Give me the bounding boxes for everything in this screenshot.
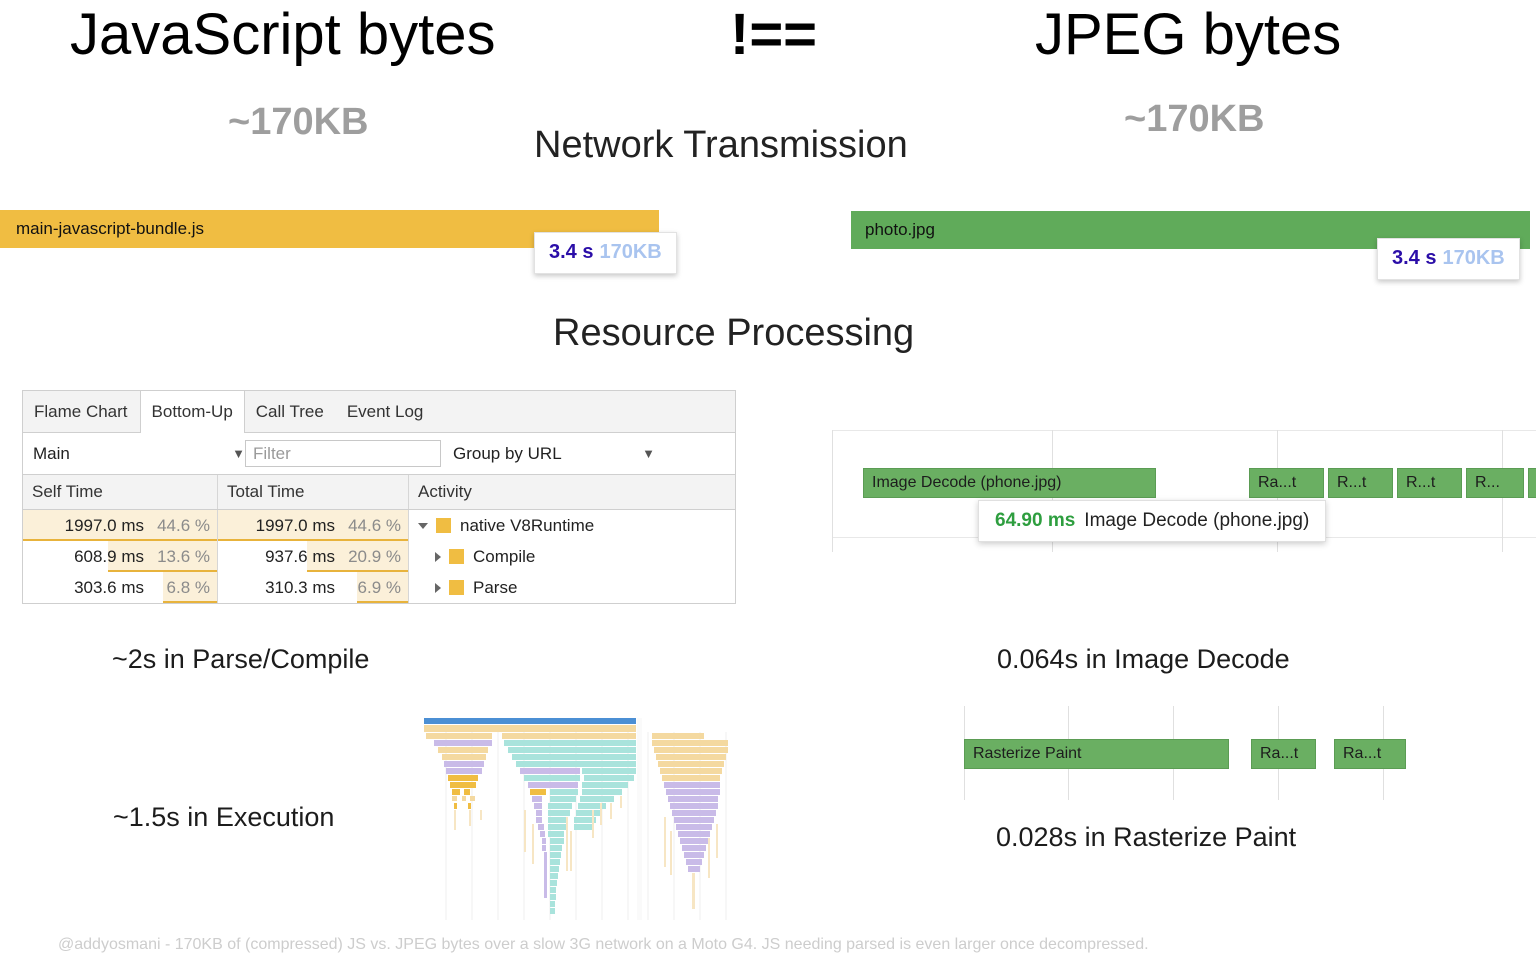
annotation-rasterize-paint: 0.028s in Rasterize Paint — [996, 822, 1296, 853]
cell-self-time-pct: 13.6 % — [144, 547, 210, 567]
section-heading-resource-processing: Resource Processing — [553, 308, 914, 358]
tab-bottom-up[interactable]: Bottom-Up — [140, 391, 245, 433]
network-tooltip-javascript: 3.4 s170KB — [534, 232, 677, 274]
flame-bar-rasterize-2-label: R...t — [1337, 474, 1366, 492]
network-tooltip-jpeg-time: 3.4 s — [1392, 247, 1436, 269]
image-decode-tooltip-label: Image Decode (phone.jpg) — [1084, 510, 1309, 531]
tab-event-log[interactable]: Event Log — [336, 391, 436, 432]
cell-total-time: 937.6 ms 20.9 % — [218, 541, 409, 572]
headline-not-equal-operator: !== — [730, 0, 817, 70]
table-row[interactable]: 303.6 ms 6.8 % 310.3 ms 6.9 % Parse — [23, 572, 735, 603]
size-note-javascript: ~170KB — [228, 98, 368, 146]
headline-jpeg-bytes: JPEG bytes — [1035, 0, 1341, 70]
color-swatch — [449, 580, 464, 595]
devtools-performance-panel: Flame Chart Bottom-Up Call Tree Event Lo… — [22, 390, 736, 604]
cell-total-time: 310.3 ms 6.9 % — [218, 572, 409, 603]
column-header-activity[interactable]: Activity — [409, 475, 735, 509]
flame-bar-rasterize-paint-main[interactable]: Rasterize Paint — [964, 739, 1229, 769]
image-decode-tooltip-duration: 64.90 ms — [995, 510, 1075, 531]
cell-self-time-ms: 1997.0 ms — [65, 516, 144, 536]
chevron-down-icon: ▼ — [232, 446, 245, 461]
image-decode-timeline: Image Decode (phone.jpg) Ra...t R...t R.… — [832, 430, 1536, 552]
flame-bar-rasterize-4[interactable]: R... — [1466, 468, 1524, 498]
table-row[interactable]: 608.9 ms 13.6 % 937.6 ms 20.9 % Compile — [23, 541, 735, 572]
flame-bar-image-decode-label: Image Decode (phone.jpg) — [872, 474, 1061, 492]
tab-call-tree-label: Call Tree — [256, 402, 324, 422]
triangle-expanded-icon[interactable] — [418, 523, 428, 529]
chevron-down-icon: ▼ — [642, 446, 655, 461]
cell-self-time: 1997.0 ms 44.6 % — [23, 510, 218, 541]
cell-total-time-ms: 1997.0 ms — [256, 516, 335, 536]
annotation-image-decode: 0.064s in Image Decode — [997, 644, 1290, 675]
flame-bar-rasterize-3[interactable]: R...t — [1397, 468, 1462, 498]
network-tooltip-jpeg-size: 170KB — [1442, 247, 1504, 269]
devtools-tabstrip: Flame Chart Bottom-Up Call Tree Event Lo… — [23, 391, 735, 433]
cell-activity: native V8Runtime — [409, 510, 735, 541]
cell-self-time-ms: 608.9 ms — [74, 547, 144, 567]
cell-total-time-ms: 310.3 ms — [265, 578, 335, 598]
color-swatch — [436, 518, 451, 533]
flame-bar-rasterize-3-label: R...t — [1406, 474, 1435, 492]
color-swatch — [449, 549, 464, 564]
devtools-toolbar: Main ▼ Filter Group by URL ▼ — [23, 433, 735, 475]
network-tooltip-javascript-time: 3.4 s — [549, 241, 593, 263]
tab-call-tree[interactable]: Call Tree — [245, 391, 336, 432]
flame-bar-rasterize-4-label: R... — [1475, 474, 1500, 492]
group-by-dropdown-value: Group by URL — [453, 444, 562, 464]
cell-total-time-pct: 6.9 % — [335, 578, 401, 598]
tab-flame-chart-label: Flame Chart — [34, 402, 128, 422]
cell-total-time-ms: 937.6 ms — [265, 547, 335, 567]
headline-javascript-bytes: JavaScript bytes — [70, 0, 590, 70]
cell-activity-label: native V8Runtime — [460, 516, 594, 536]
size-note-jpeg: ~170KB — [1124, 95, 1264, 143]
cell-total-time-pct: 20.9 % — [335, 547, 401, 567]
tab-flame-chart[interactable]: Flame Chart — [23, 391, 140, 432]
cell-total-time-pct: 44.6 % — [335, 516, 401, 536]
flame-bar-rasterize-2[interactable]: R...t — [1328, 468, 1393, 498]
group-by-dropdown[interactable]: Group by URL ▼ — [453, 444, 655, 464]
cell-self-time-pct: 6.8 % — [144, 578, 210, 598]
flame-bar-rasterize-paint-3[interactable]: Ra...t — [1334, 739, 1406, 769]
column-header-total-time[interactable]: Total Time — [218, 475, 409, 509]
triangle-collapsed-icon[interactable] — [435, 583, 441, 593]
flame-bar-rasterize-paint-2[interactable]: Ra...t — [1251, 739, 1316, 769]
image-decode-tooltip: 64.90 msImage Decode (phone.jpg) — [978, 500, 1326, 542]
flame-chart-thumbnail-graphic — [424, 718, 732, 920]
flame-bar-rasterize-1[interactable]: Ra...t — [1249, 468, 1324, 498]
column-header-self-time[interactable]: Self Time — [23, 475, 218, 509]
table-row[interactable]: 1997.0 ms 44.6 % 1997.0 ms 44.6 % native… — [23, 510, 735, 541]
flame-bar-rasterize-5[interactable]: R — [1528, 468, 1536, 498]
scope-dropdown[interactable]: Main ▼ — [33, 444, 245, 464]
flame-bar-rasterize-paint-main-label: Rasterize Paint — [973, 745, 1082, 763]
section-heading-network-transmission: Network Transmission — [534, 120, 908, 170]
table-header-row: Self Time Total Time Activity — [23, 475, 735, 510]
rasterize-paint-timeline: Rasterize Paint Ra...t Ra...t — [940, 706, 1440, 800]
annotation-execution: ~1.5s in Execution — [113, 802, 334, 833]
cell-activity-label: Compile — [473, 547, 535, 567]
cell-activity: Parse — [409, 572, 735, 603]
flame-bar-rasterize-1-label: Ra...t — [1258, 474, 1296, 492]
cell-self-time-pct: 44.6 % — [144, 516, 210, 536]
flame-bar-rasterize-paint-3-label: Ra...t — [1343, 745, 1381, 763]
filter-input[interactable]: Filter — [245, 440, 441, 467]
scope-dropdown-value: Main — [33, 444, 70, 464]
cell-activity-label: Parse — [473, 578, 517, 598]
network-tooltip-javascript-size: 170KB — [599, 241, 661, 263]
cell-self-time: 303.6 ms 6.8 % — [23, 572, 218, 603]
network-tooltip-jpeg: 3.4 s170KB — [1377, 238, 1520, 280]
cell-self-time: 608.9 ms 13.6 % — [23, 541, 218, 572]
network-bar-jpeg-label: photo.jpg — [865, 220, 935, 240]
cell-self-time-ms: 303.6 ms — [74, 578, 144, 598]
footer-caption: @addyosmani - 170KB of (compressed) JS v… — [58, 936, 1149, 954]
flame-bar-rasterize-paint-2-label: Ra...t — [1260, 745, 1298, 763]
network-bar-javascript-label: main-javascript-bundle.js — [16, 219, 204, 239]
flame-bar-image-decode[interactable]: Image Decode (phone.jpg) — [863, 468, 1156, 498]
cell-activity: Compile — [409, 541, 735, 572]
tab-event-log-label: Event Log — [347, 402, 424, 422]
annotation-parse-compile: ~2s in Parse/Compile — [112, 644, 369, 675]
tab-bottom-up-label: Bottom-Up — [152, 402, 233, 422]
triangle-collapsed-icon[interactable] — [435, 552, 441, 562]
flame-chart-thumbnail[interactable] — [424, 718, 732, 920]
cell-total-time: 1997.0 ms 44.6 % — [218, 510, 409, 541]
